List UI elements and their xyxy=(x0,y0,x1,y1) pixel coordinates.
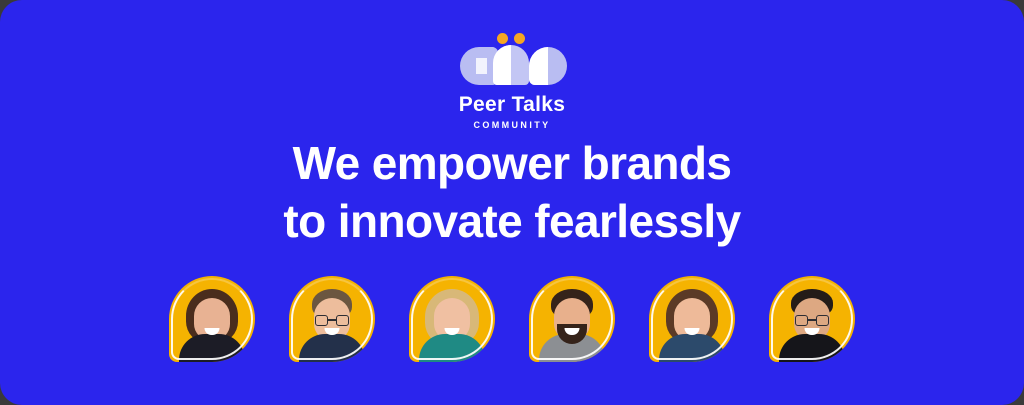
logo-glyph-arch-icon xyxy=(493,45,529,85)
logo-dot-left-icon xyxy=(497,33,508,44)
avatar-backdrop xyxy=(169,276,255,362)
avatar-glasses-icon xyxy=(795,315,829,326)
avatar-backdrop xyxy=(649,276,735,362)
avatar-shoulders xyxy=(419,334,485,362)
avatar-shoulders xyxy=(659,334,725,362)
avatar-shoulders xyxy=(779,334,845,362)
avatar-shoulders xyxy=(299,334,365,362)
avatar-6[interactable] xyxy=(769,276,855,362)
headline: We empower brands to innovate fearlessly xyxy=(0,134,1024,250)
avatar-backdrop xyxy=(769,276,855,362)
promo-banner: Peer Talks COMMUNITY We empower brands t… xyxy=(0,0,1024,405)
avatar-3[interactable] xyxy=(409,276,495,362)
headline-line-2: to innovate fearlessly xyxy=(0,192,1024,250)
peer-talks-logo-mark xyxy=(460,33,564,85)
avatar-backdrop xyxy=(409,276,495,362)
logo-subword: COMMUNITY xyxy=(473,121,550,130)
avatar-glasses-icon xyxy=(315,315,349,326)
logo-speech-bubble-icon xyxy=(529,47,567,85)
avatar-backdrop xyxy=(289,276,375,362)
avatar-backdrop xyxy=(529,276,615,362)
avatar-row xyxy=(0,276,1024,362)
brand-logo: Peer Talks COMMUNITY xyxy=(0,33,1024,130)
avatar-shoulders xyxy=(179,334,245,362)
avatar-1[interactable] xyxy=(169,276,255,362)
headline-line-1: We empower brands xyxy=(0,134,1024,192)
avatar-5[interactable] xyxy=(649,276,735,362)
logo-wordmark: Peer Talks xyxy=(459,94,566,115)
avatar-4[interactable] xyxy=(529,276,615,362)
logo-dot-right-icon xyxy=(514,33,525,44)
avatar-2[interactable] xyxy=(289,276,375,362)
